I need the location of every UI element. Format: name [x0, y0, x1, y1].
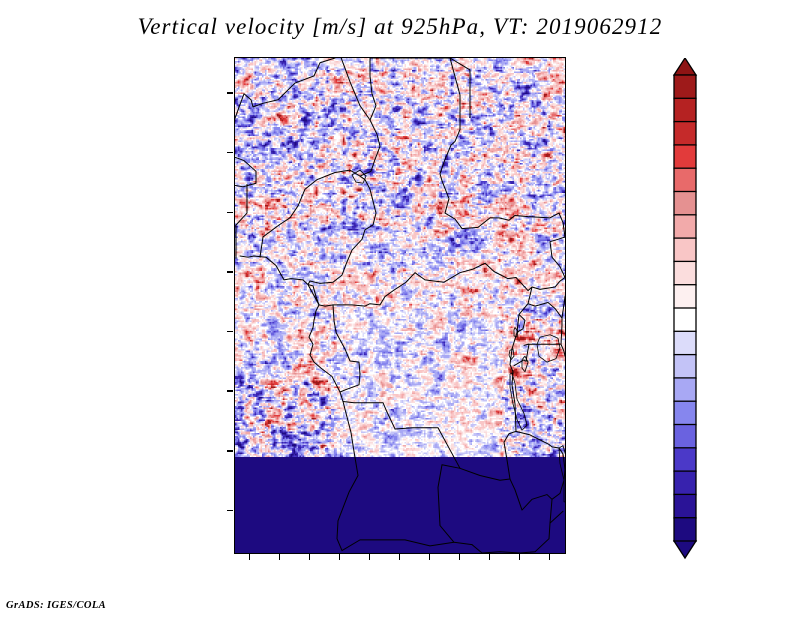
x-tick-mark [399, 554, 401, 560]
colorbar-band [674, 238, 696, 262]
colorbar-band [674, 168, 696, 192]
colorbar-band [674, 145, 696, 169]
colorbar-band [674, 331, 696, 355]
colorbar-band [674, 471, 696, 495]
map-plot-area [234, 57, 566, 554]
colorbar-band [674, 215, 696, 239]
x-tick-mark [429, 554, 431, 560]
page-title: Vertical velocity [m/s] at 925hPa, VT: 2… [0, 14, 800, 40]
colorbar-band [674, 122, 696, 146]
country-borders-overlay [235, 58, 565, 553]
colorbar-arrow-bottom [674, 541, 696, 558]
y-tick-mark [227, 152, 233, 154]
colorbar-band [674, 401, 696, 425]
colorbar-band [674, 448, 696, 472]
x-tick-mark [459, 554, 461, 560]
y-tick-mark [227, 212, 233, 214]
colorbar-band [674, 75, 696, 99]
y-tick-mark [227, 450, 233, 452]
colorbar [668, 58, 704, 558]
colorbar-band [674, 98, 696, 122]
colorbar-band [674, 308, 696, 332]
x-tick-mark [489, 554, 491, 560]
colorbar-arrow-top [674, 58, 696, 75]
colorbar-band [674, 355, 696, 379]
colorbar-band [674, 494, 696, 518]
colorbar-band [674, 425, 696, 449]
y-tick-mark [227, 271, 233, 273]
y-tick-mark [227, 510, 233, 512]
x-tick-mark [369, 554, 371, 560]
colorbar-band [674, 192, 696, 216]
colorbar-swatches [668, 58, 704, 568]
y-tick-mark [227, 331, 233, 333]
colorbar-band [674, 378, 696, 402]
x-tick-mark [279, 554, 281, 560]
x-tick-mark [309, 554, 311, 560]
x-tick-mark [519, 554, 521, 560]
footer-credit: GrADS: IGES/COLA [6, 600, 106, 611]
y-tick-mark [227, 390, 233, 392]
colorbar-band [674, 261, 696, 285]
x-tick-mark [249, 554, 251, 560]
y-tick-mark [227, 92, 233, 94]
x-tick-mark [549, 554, 551, 560]
colorbar-band [674, 518, 696, 542]
x-tick-mark [339, 554, 341, 560]
colorbar-band [674, 285, 696, 309]
